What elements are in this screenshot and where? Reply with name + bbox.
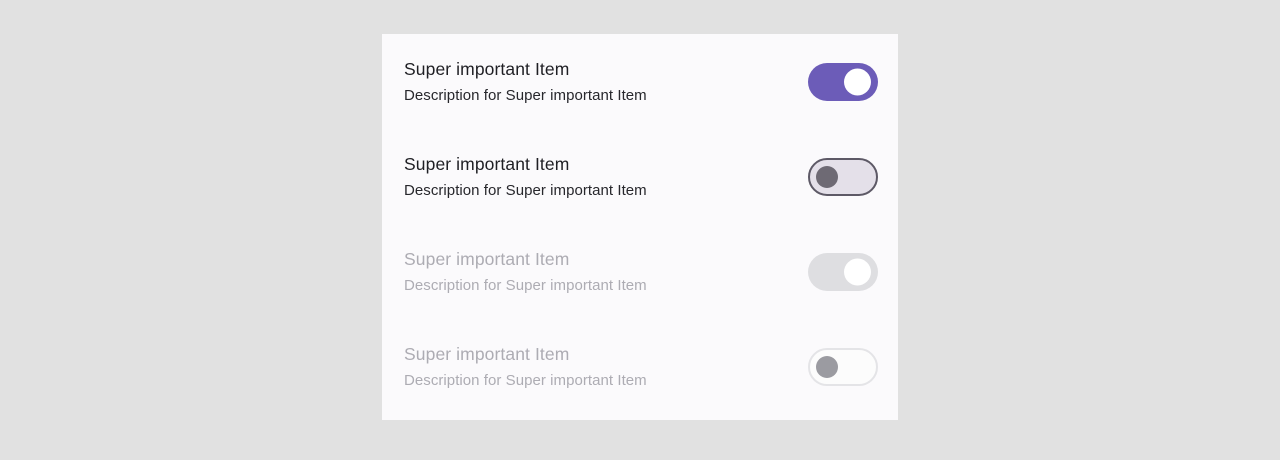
toggle-switch-1[interactable] — [808, 63, 878, 101]
settings-row-text: Super important Item Description for Sup… — [404, 344, 808, 390]
toggle-switch-2[interactable] — [808, 158, 878, 196]
toggle-knob-icon — [816, 356, 838, 378]
settings-row: Super important Item Description for Sup… — [382, 224, 898, 319]
settings-row-description: Description for Super important Item — [404, 277, 808, 295]
toggle-switch-3 — [808, 253, 878, 291]
settings-row-description: Description for Super important Item — [404, 372, 808, 390]
toggle-knob-icon — [816, 166, 838, 188]
settings-row: Super important Item Description for Sup… — [382, 319, 898, 414]
toggle-switch-4 — [808, 348, 878, 386]
page-root: Super important Item Description for Sup… — [0, 0, 1280, 460]
settings-row-title: Super important Item — [404, 154, 808, 175]
settings-row-text: Super important Item Description for Sup… — [404, 154, 808, 200]
settings-row-description: Description for Super important Item — [404, 182, 808, 200]
settings-row[interactable]: Super important Item Description for Sup… — [382, 34, 898, 129]
settings-list: Super important Item Description for Sup… — [382, 34, 898, 414]
settings-row-text: Super important Item Description for Sup… — [404, 59, 808, 105]
settings-row-title: Super important Item — [404, 344, 808, 365]
settings-row-title: Super important Item — [404, 59, 808, 80]
settings-row-text: Super important Item Description for Sup… — [404, 249, 808, 295]
toggle-knob-icon — [844, 258, 871, 285]
toggle-knob-icon — [844, 68, 871, 95]
settings-card: Super important Item Description for Sup… — [382, 34, 898, 420]
settings-row[interactable]: Super important Item Description for Sup… — [382, 129, 898, 224]
settings-row-title: Super important Item — [404, 249, 808, 270]
settings-row-description: Description for Super important Item — [404, 87, 808, 105]
